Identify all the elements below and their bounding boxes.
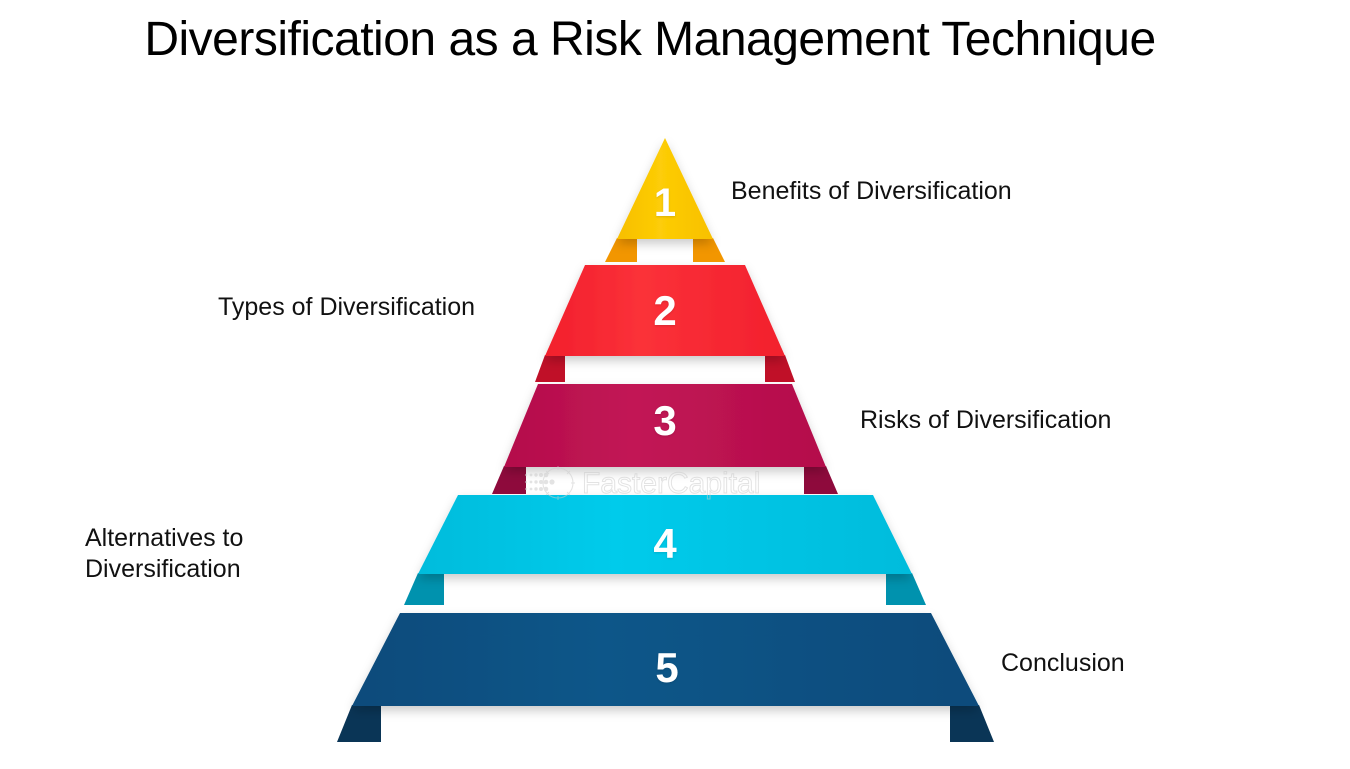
level-4-fold-left	[404, 573, 444, 605]
level-3-fold-right	[804, 466, 838, 494]
level-5-fold-left	[337, 705, 381, 742]
level-5-fold-right	[950, 705, 994, 742]
level-1-fold-left	[605, 238, 637, 262]
level-3-fold-left	[492, 466, 526, 494]
level-3-number: 3	[635, 400, 695, 442]
level-2-fold-left	[535, 355, 565, 382]
slide-canvas: Diversification as a Risk Management Tec…	[0, 0, 1350, 769]
level-4-label: Alternatives to Diversification	[85, 523, 243, 586]
level-5-number: 5	[637, 647, 697, 689]
level-2-fold-right	[765, 355, 795, 382]
pyramid-diagram: 1 2 3 4 5 Benefits of Diversification Ty…	[0, 0, 1350, 769]
level-3-label: Risks of Diversification	[860, 405, 1111, 436]
level-2-number: 2	[635, 290, 695, 332]
level-1-fold-right	[693, 238, 725, 262]
level-2-label: Types of Diversification	[218, 292, 475, 323]
level-5-label: Conclusion	[1001, 648, 1125, 679]
level-1-number: 1	[635, 183, 695, 223]
level-4-number: 4	[635, 523, 695, 565]
level-1-label: Benefits of Diversification	[731, 176, 1012, 207]
level-4-fold-right	[886, 573, 926, 605]
